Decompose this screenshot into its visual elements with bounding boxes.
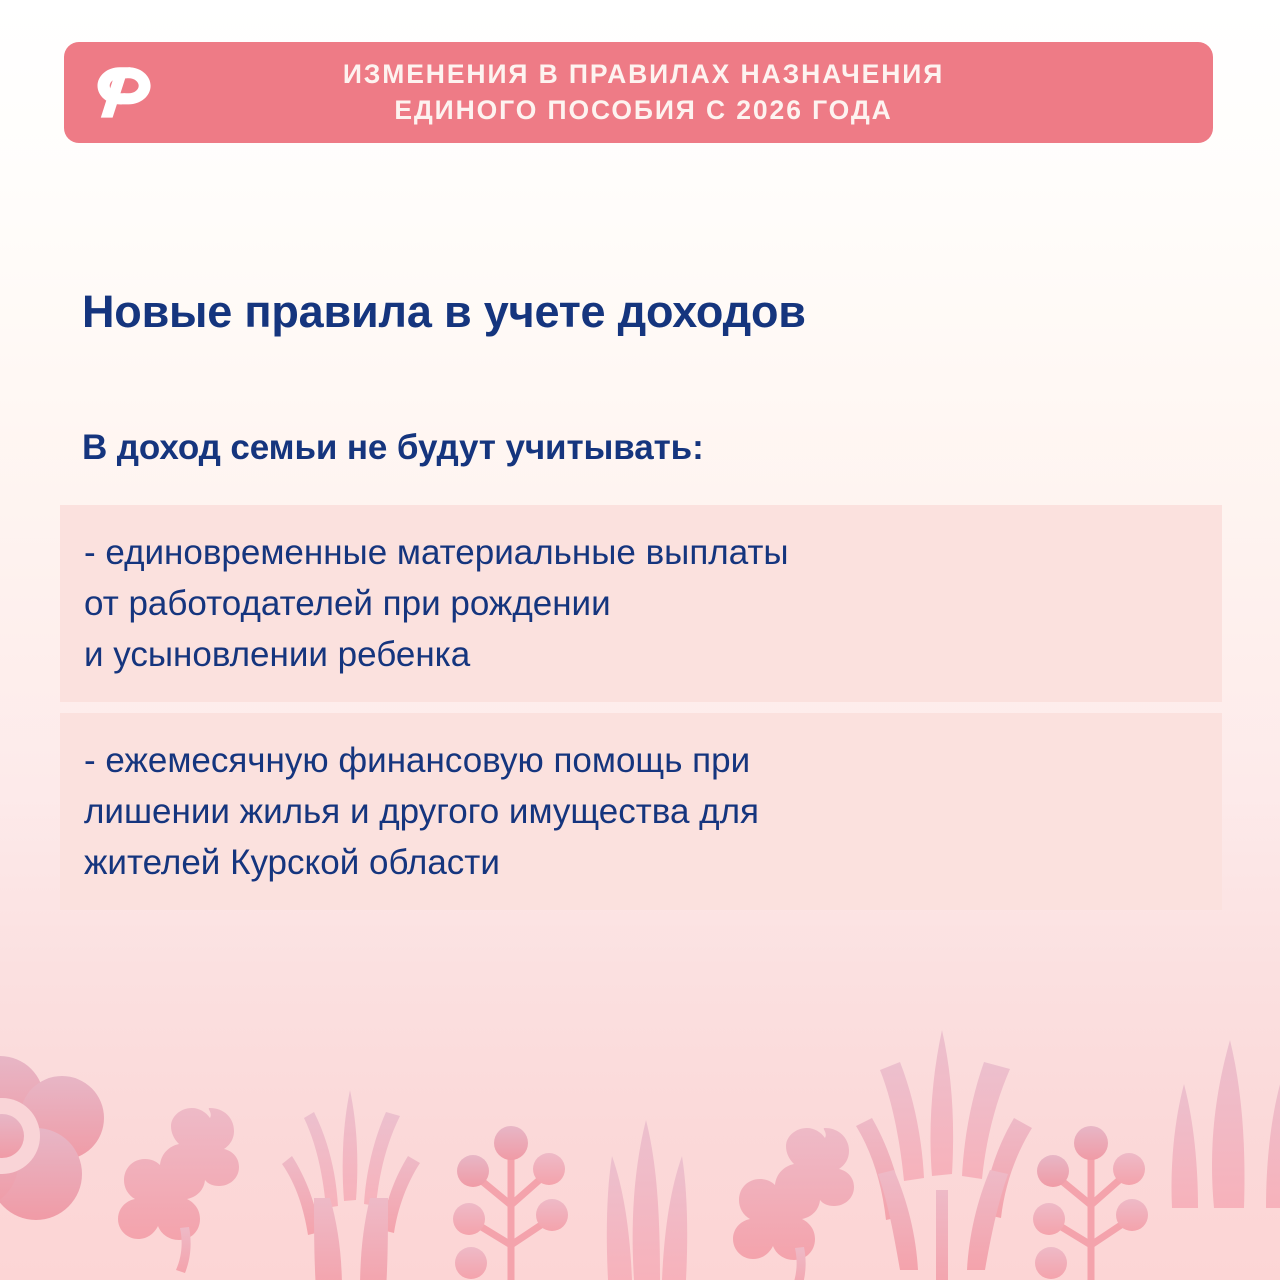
decor-tulip-leaf-icon bbox=[607, 1120, 687, 1280]
decor-oak-leaf-icon bbox=[733, 1128, 854, 1280]
decor-tulip-leaf-icon bbox=[1172, 1040, 1280, 1208]
sfr-logo-icon bbox=[91, 59, 157, 127]
decor-grass-fan-icon bbox=[282, 1090, 420, 1280]
decor-palm-leaf-icon bbox=[856, 1030, 1032, 1280]
header-bar: ИЗМЕНЕНИЯ В ПРАВИЛАХ НАЗНАЧЕНИЯ ЕДИНОГО … bbox=[64, 42, 1213, 143]
section-subtitle: В доход семьи не будут учитывать: bbox=[82, 428, 704, 468]
fact-block: - ежемесячную финансовую помощь при лише… bbox=[60, 713, 1222, 910]
poster-root: ИЗМЕНЕНИЯ В ПРАВИЛАХ НАЗНАЧЕНИЯ ЕДИНОГО … bbox=[0, 0, 1280, 1280]
header-title: ИЗМЕНЕНИЯ В ПРАВИЛАХ НАЗНАЧЕНИЯ ЕДИНОГО … bbox=[184, 57, 1213, 127]
decor-oak-leaf-icon bbox=[118, 1108, 239, 1273]
decor-berry-sprig-icon bbox=[453, 1126, 568, 1280]
page-title: Новые правила в учете доходов bbox=[82, 286, 806, 338]
decor-flower-icon bbox=[0, 1056, 104, 1220]
decor-berry-sprig-icon bbox=[1033, 1126, 1148, 1280]
logo-wrap bbox=[64, 59, 184, 127]
floral-bottom-band bbox=[0, 1020, 1280, 1280]
fact-block: - единовременные материальные выплаты от… bbox=[60, 505, 1222, 702]
